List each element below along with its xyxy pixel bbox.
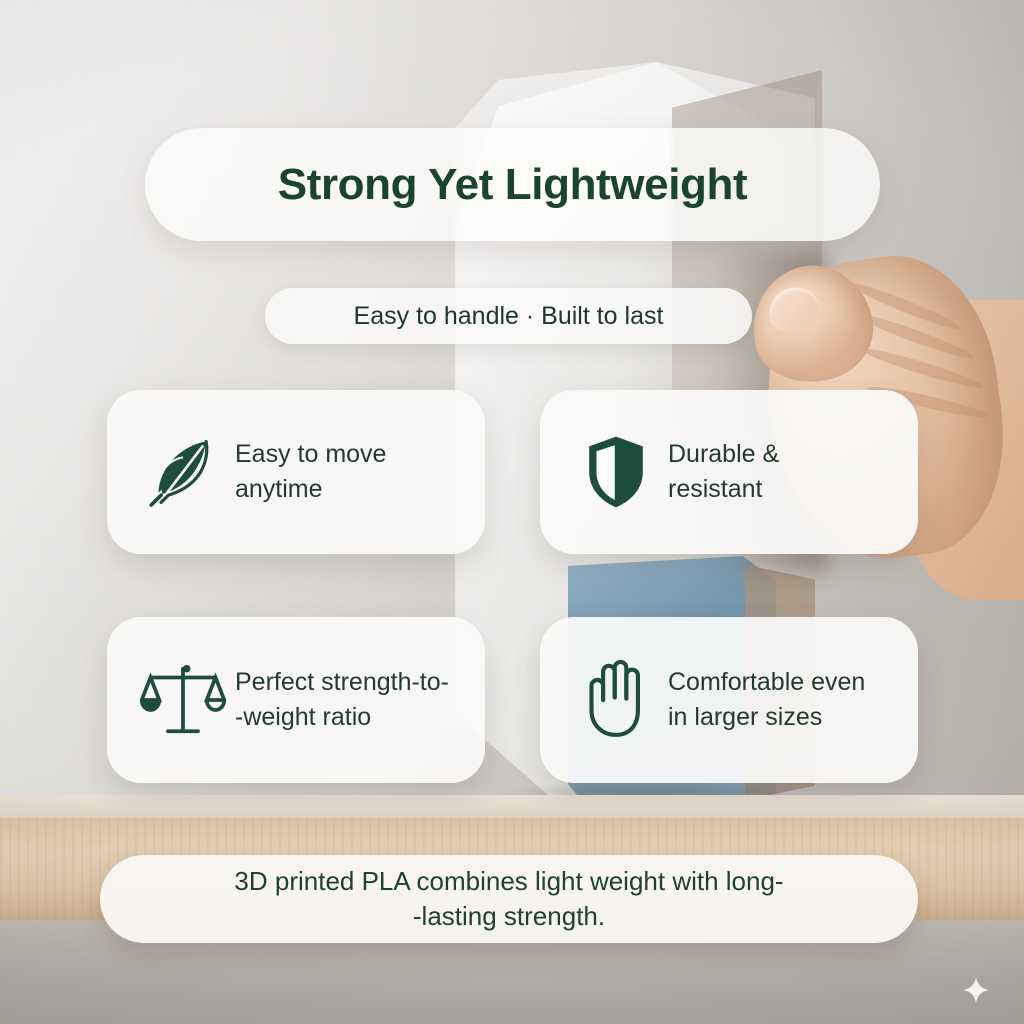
feature-label: Perfect strength-to- -weight ratio [235,665,449,736]
scales-balance-icon [137,654,229,746]
feature-card-easy-to-move[interactable]: Easy to move anytime [107,390,485,554]
open-hand-icon [570,654,662,746]
infographic-overlay: Strong Yet Lightweight Easy to handle · … [0,0,1024,1024]
feature-card-durable[interactable]: Durable & resistant [540,390,918,554]
caption-banner: 3D printed PLA combines light weight wit… [100,855,918,943]
feature-label: Durable & resistant [668,437,779,508]
feature-label: Easy to move anytime [235,437,386,508]
caption-text: 3D printed PLA combines light weight wit… [194,864,823,935]
feature-label: Comfortable even in larger sizes [668,665,865,736]
sparkle-icon [963,977,989,1003]
feature-card-comfortable[interactable]: Comfortable even in larger sizes [540,617,918,783]
feather-icon [137,426,229,518]
shield-icon [570,426,662,518]
feature-card-strength-to-weight[interactable]: Perfect strength-to- -weight ratio [107,617,485,783]
